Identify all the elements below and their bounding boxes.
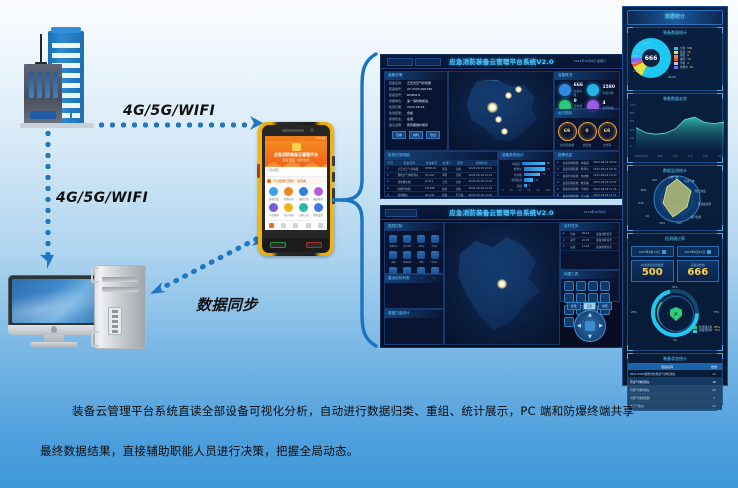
app-label: 维保计划 xyxy=(297,197,309,201)
alarm-cell: 装备异常提醒：手电筒 xyxy=(561,186,591,193)
app-glyph-icon xyxy=(299,203,308,212)
records-cell: 便携式气体检测仪 xyxy=(396,172,423,179)
table-header: 检测记录明细 xyxy=(385,152,497,160)
detail-value: 在用 xyxy=(407,117,413,121)
records-cell: 2023-09-18 11:40 xyxy=(467,192,497,199)
list1-header: 重点目标列表 xyxy=(385,275,443,283)
status-cell-name: 可燃气体检测仪 xyxy=(628,386,706,394)
dashboard-screenshot-1[interactable]: 应急消防装备云管理平台系统V2.0 2023年10月8日 星期日 装备详情 装备… xyxy=(380,54,623,199)
caption-line-1: 装备云管理平台系统直读全部设备可视化分析，自动进行数据归类、重组、统计展示，PC… xyxy=(72,406,634,418)
detail-key: 使用状态： xyxy=(389,117,404,121)
detail-button[interactable]: 编辑 xyxy=(409,131,423,139)
task-row[interactable]: 2进行10:05装备调拨任务 xyxy=(561,237,619,244)
tower-ports xyxy=(108,307,122,335)
records-table-panel[interactable]: 检测记录明细 序号装备名称装备编号检测人结果检测时间1正压式空气呼吸器RHZK-… xyxy=(384,151,498,197)
alarm-header: 报警信息 xyxy=(555,152,619,160)
status-col: 数量 xyxy=(706,363,722,370)
stat-value: 666 xyxy=(574,84,585,89)
arrow-head-down xyxy=(39,255,55,271)
layer-tool-label: 重点单位 xyxy=(402,244,413,247)
layer-tool[interactable]: 救援队伍 xyxy=(401,251,414,264)
date-start-value: 2023年8月14日 xyxy=(639,250,660,254)
legend-swatch xyxy=(693,326,697,329)
bar-item: 检测仪72 xyxy=(502,167,550,171)
status-cell-name: 有毒气体检测仪 xyxy=(628,378,706,386)
status-col: 装备名称 xyxy=(628,363,706,370)
detail-key: 装备型号： xyxy=(389,93,404,97)
link-line-left xyxy=(45,128,51,260)
layer-tool-icon xyxy=(431,251,439,259)
app-label: 扫码入库 xyxy=(297,213,309,217)
rate-number-box: 装备总数量666 xyxy=(677,260,720,282)
records-row[interactable]: 6灭火器MH-520周涛合格2023-09-18 12:05 xyxy=(385,198,497,199)
detail-key: 所属单位： xyxy=(389,99,404,103)
alarm-row[interactable]: 6装备到期提醒：灭火器2023-09-18 12:01 xyxy=(555,192,619,199)
regional-map[interactable] xyxy=(444,222,560,345)
layer-tool-label: 水源点 xyxy=(429,244,440,247)
area-xtick: 2023年08月 xyxy=(635,154,648,158)
app-glyph-icon xyxy=(299,187,308,196)
gauge-item: 0故障数 xyxy=(578,122,597,147)
legend-swatch xyxy=(674,51,678,54)
stat-label: 装备总数 xyxy=(574,89,585,97)
tab-装备[interactable] xyxy=(281,223,286,228)
gauge-top-label: 50% xyxy=(672,286,678,289)
records-cell: 不合格 xyxy=(454,192,467,199)
task-row[interactable]: 3完成11:30装备检测任务 xyxy=(561,244,619,251)
layer-tool[interactable]: 装备分布 xyxy=(387,235,400,248)
layer-tool[interactable]: 重点单位 xyxy=(401,235,414,248)
records-cell: 4 xyxy=(385,185,396,192)
radar-axis-label: VOC xyxy=(652,179,658,182)
layer-tool[interactable]: 消防站 xyxy=(415,235,428,248)
call-key[interactable] xyxy=(270,242,286,248)
news-ticker[interactable]: 平台数据已更新，请查看 xyxy=(265,177,327,184)
area-xtick: 01月 xyxy=(718,154,723,158)
detail-key: 备注说明： xyxy=(389,123,404,127)
layer-tool[interactable]: 预案 xyxy=(415,251,428,264)
records-row[interactable]: 2便携式气体检测仪QT-102李明合格2023-09-18 10:35 xyxy=(385,172,497,179)
radar-axis-label: 粉尘浓度 xyxy=(695,189,705,193)
app-logo-icon xyxy=(292,143,301,151)
maptools-header: 地图工具 xyxy=(561,271,619,279)
map-tool-icon[interactable] xyxy=(600,281,610,291)
detail-value: 合格 xyxy=(407,111,413,115)
target-list-panel[interactable]: 重点目标列表 xyxy=(384,274,444,309)
legend-swatch xyxy=(693,330,697,333)
alarm-panel[interactable]: 报警信息 1装备到期提醒：呼吸器2023-09-18 09:202装备到期提醒：… xyxy=(554,151,620,197)
keypad-area[interactable] xyxy=(263,238,329,252)
donut-card-title: 装备数量统计 xyxy=(628,28,722,37)
area-xtick: 09月 xyxy=(658,154,663,158)
trend-card-title: 装备数量走势 xyxy=(628,94,722,103)
app-subtitle: 装备管理 · 实时在线 xyxy=(265,158,327,162)
layer-tool-icon xyxy=(417,251,425,259)
records-cell: MH-520 xyxy=(423,198,440,199)
rate-number-box: 检测通过装备数量500 xyxy=(631,260,674,282)
detail-value: 正压式空气呼吸器 xyxy=(407,81,431,85)
detail-value: 第一消防救援站 xyxy=(407,99,428,103)
legend-swatch xyxy=(674,47,678,50)
layer-tool[interactable]: 道路 xyxy=(387,251,400,264)
date-start-picker[interactable]: 2023年8月14日 xyxy=(631,246,674,257)
bar-item: 呼吸器86 xyxy=(502,162,550,166)
bar-label: 其他 xyxy=(502,184,522,188)
alarm-row[interactable]: 3装备异常提醒：热成像2023-09-18 10:10 xyxy=(555,173,619,180)
app-icon-4[interactable]: 人员管理 xyxy=(267,203,281,217)
records-cell: 5 xyxy=(385,192,396,199)
desktop-computer-icon xyxy=(8,265,153,357)
task-table[interactable]: 1待办09:12装备巡检任务2进行10:05装备调拨任务3完成11:30装备检测… xyxy=(561,231,619,251)
calendar-icon xyxy=(707,250,711,254)
bar-xtick: 20 xyxy=(509,189,512,192)
records-cell: 合格 xyxy=(454,198,467,199)
pct-label-4: 1.9% xyxy=(633,70,640,73)
area-ytick: 1000 xyxy=(630,104,640,112)
layer-tool-icon xyxy=(403,251,411,259)
app-label: 装备台账 xyxy=(268,197,280,201)
bar-value: 9 xyxy=(529,184,531,187)
app-icon-7[interactable]: 系统设置 xyxy=(311,203,325,217)
trend-card: 装备数量走势 10008006004002000 2023年08月09月10月1… xyxy=(627,93,723,163)
status-row[interactable]: 电子气象仪21 xyxy=(628,402,722,410)
force-stats-panel[interactable]: 救援力量统计 xyxy=(384,309,444,345)
app-glyph-icon xyxy=(314,203,323,212)
layer-tool-label: 道路 xyxy=(388,260,399,263)
equipment-detail-panel[interactable]: 装备详情 装备名称：正压式空气呼吸器装备编号：AF-2023-000186装备型… xyxy=(384,71,448,151)
rate-legend-item: 装备使用率71% xyxy=(693,329,720,333)
radar-axis-label: 可燃气体 xyxy=(668,175,678,179)
area-xtick: 11月 xyxy=(688,154,693,158)
records-row[interactable]: 4防爆手电筒SD-308赵刚合格2023-09-18 11:18 xyxy=(385,185,497,192)
radar-axis-label: 噪声监测 xyxy=(691,215,701,219)
area-ytick: 600 xyxy=(630,120,640,128)
app-icon-5[interactable]: 统计分析 xyxy=(282,203,296,217)
trend-area-chart: 10008006004002000 2023年08月09月10月11月12月01… xyxy=(631,104,719,156)
bar-fill xyxy=(524,173,540,177)
layer-tools-panel[interactable]: 图层控制 装备分布重点单位消防站水源点道路救援队伍预案危险源监控标注测距围栏 xyxy=(384,222,444,274)
bar-xtick: 100 xyxy=(545,189,550,192)
detail-row: 备注说明：按周期维护保养 xyxy=(385,122,447,128)
task-cell: 装备调拨任务 xyxy=(594,237,619,244)
pct-label-1: 2% xyxy=(636,49,640,52)
records-cell: 2023-09-18 11:02 xyxy=(467,179,497,186)
detail-button[interactable]: 导出 xyxy=(426,131,440,139)
rate-number-value: 500 xyxy=(632,267,673,278)
alarm-cell: 2023-09-18 09:44 xyxy=(591,166,619,173)
task-cell: 2 xyxy=(561,237,568,244)
area-xtick: 12月 xyxy=(703,154,708,158)
app-label: 人员管理 xyxy=(268,213,280,217)
records-cell: 合格 xyxy=(454,172,467,179)
map-mode-switch[interactable]: 标准卫星地形 xyxy=(567,302,612,310)
records-cell: QT-102 xyxy=(423,172,440,179)
app-icon-6[interactable]: 扫码入库 xyxy=(297,203,311,217)
gauge-item: 68合格率 xyxy=(598,122,617,147)
area-ytick: 800 xyxy=(630,112,640,120)
dashboard2-header: 应急消防装备云管理平台系统V2.0 2023年10月8日 xyxy=(381,206,622,220)
monitor-radar-card: 数据监测统计 可燃气体有毒气体粉尘浓度温湿度监测噪声监测CO2CH4O2H2SN… xyxy=(627,165,723,231)
status-card-title: 装备状态统计 xyxy=(628,354,722,363)
records-row[interactable]: 3消防救生绳JS-211王伟合格2023-09-18 11:02 xyxy=(385,179,497,186)
map-pan-control[interactable]: ▲▼ ◀▶ xyxy=(574,310,606,342)
link-line-sync xyxy=(140,230,270,300)
records-cell: 灭火器 xyxy=(396,198,423,199)
bar-item: 其他9 xyxy=(502,184,550,188)
notice-label: 公告通知 xyxy=(265,167,327,177)
dashboard1-header: 应急消防装备云管理平台系统V2.0 2023年10月8日 星期日 xyxy=(381,55,622,69)
records-cell: 防爆手电筒 xyxy=(396,185,423,192)
bar-xtick: 0 xyxy=(502,189,504,192)
caption-line-2: 最终数据结果，直接辅助职能人员进行决策，把握全局动态。 xyxy=(40,446,359,458)
status-row[interactable]: MGC-5000便携式泵吸式气体检测仪11 xyxy=(628,370,722,378)
layer-tool-label: 消防站 xyxy=(415,244,426,247)
tower-cap xyxy=(51,27,81,33)
app-icon-2[interactable]: 维保计划 xyxy=(297,187,311,201)
records-cell: 赵刚 xyxy=(440,185,454,192)
status-row[interactable]: 有毒气体检测仪16 xyxy=(628,378,722,386)
app-icon-1[interactable]: 检测记录 xyxy=(282,187,296,201)
status-cell-count: 16 xyxy=(706,378,722,386)
apple-logo-icon xyxy=(51,326,57,333)
records-row[interactable]: 5热成像仪RC-044孙磊不合格2023-09-18 11:40 xyxy=(385,192,497,199)
pct-label-3: 0.3% xyxy=(631,62,638,65)
app-icon-3[interactable]: 报废管理 xyxy=(311,187,325,201)
news-text: 平台数据已更新，请查看 xyxy=(273,179,306,183)
task-list-panel[interactable]: 实时任务 1待办09:12装备巡检任务2进行10:05装备调拨任务3完成11:3… xyxy=(560,222,620,270)
detail-key: 装备编号： xyxy=(389,87,404,91)
records-cell: 合格 xyxy=(454,185,467,192)
stat-orb-icon xyxy=(587,84,599,96)
tab-我的[interactable] xyxy=(318,223,323,228)
bar-header: 装备类别统计 xyxy=(499,152,553,160)
bar-value: 86 xyxy=(547,162,550,165)
map-tool-icon[interactable] xyxy=(588,281,598,291)
building-ground xyxy=(20,123,94,128)
stats-header: 装备概况 xyxy=(555,72,619,80)
task-cell: 3 xyxy=(561,244,568,251)
gauge-item: 69在用装备数 xyxy=(558,122,577,147)
low-rise-building xyxy=(24,64,62,125)
bar-fill xyxy=(522,162,545,166)
tools-header: 图层控制 xyxy=(385,223,443,231)
app-label: 检测记录 xyxy=(282,197,294,201)
map-tool-icon[interactable] xyxy=(576,281,586,291)
alarm-row[interactable]: 4装备到期提醒：救生绳2023-09-18 10:52 xyxy=(555,179,619,186)
bar-label: 照明装备 xyxy=(502,178,522,182)
alarm-row[interactable]: 5装备异常提醒：手电筒2023-09-18 11:26 xyxy=(555,186,619,193)
radar-axis-label: CH4 xyxy=(660,222,665,225)
map-mode-地形[interactable]: 地形 xyxy=(598,302,612,310)
monitor xyxy=(8,275,100,341)
bar-fill xyxy=(524,184,527,188)
bar-xaxis: 020406080100 xyxy=(499,189,553,192)
list2-header: 救援力量统计 xyxy=(385,310,443,318)
app-glyph-icon xyxy=(269,187,278,196)
pass-rate-card[interactable]: 检测通过率 2023年8月14日 2023年8月14日 检测通过装备数量500装… xyxy=(627,233,723,351)
records-cell: 合格 xyxy=(454,179,467,186)
bar-label: 防护服 xyxy=(502,173,522,177)
layer-tool-label: 装备分布 xyxy=(388,244,399,247)
bar-label: 呼吸器 xyxy=(502,162,520,166)
office-buildings-icon xyxy=(18,28,96,128)
task-header: 实时任务 xyxy=(561,223,619,231)
layer-tool[interactable]: 水源点 xyxy=(428,235,441,248)
records-cell: 王伟 xyxy=(440,179,454,186)
date-end-picker[interactable]: 2023年8月14日 xyxy=(677,246,720,257)
distribution-map[interactable] xyxy=(448,71,554,151)
records-cell: 热成像仪 xyxy=(396,192,423,199)
detail-key: 检测结果： xyxy=(389,111,404,115)
gauge-panel: 运行指标 69在用装备数0故障数68合格率 xyxy=(554,109,620,151)
gauge-left-label: 25% xyxy=(631,311,637,314)
alarm-cell: 2023-09-18 11:26 xyxy=(591,186,619,193)
status-header-row: 装备名称数量 xyxy=(628,363,722,370)
bar-fill xyxy=(524,167,545,171)
legend-label: 装备使用率 xyxy=(699,329,712,333)
stat-label: 检测次数 xyxy=(602,91,615,95)
app-grid[interactable]: 装备台账检测记录维保计划报废管理人员管理统计分析扫码入库系统设置 xyxy=(265,184,327,220)
status-cell-count: 11 xyxy=(706,370,722,378)
status-cell-name: MGC-5000便携式泵吸式气体检测仪 xyxy=(628,370,706,378)
map-tool-icon[interactable] xyxy=(564,317,574,327)
rate-number-value: 666 xyxy=(678,267,719,278)
link-left-label: 4G/5G/WIFI xyxy=(56,190,148,206)
link-top-label: 4G/5G/WIFI xyxy=(123,103,215,119)
records-cell: 2023-09-18 12:05 xyxy=(467,198,497,199)
legend-label: 维修中 xyxy=(680,66,688,70)
bar-xtick: 40 xyxy=(518,189,521,192)
link-sync-label: 数据同步 xyxy=(196,294,258,315)
app-glyph-icon xyxy=(284,187,293,196)
status-table-card[interactable]: 装备状态统计 装备名称数量MGC-5000便携式泵吸式气体检测仪11有毒气体检测… xyxy=(627,353,723,411)
app-label: 报废管理 xyxy=(312,197,324,201)
gauge-bottom-label: 0% xyxy=(673,339,677,342)
gauge-value: 69 xyxy=(558,122,577,141)
link-line-top xyxy=(96,122,252,128)
legend-swatch xyxy=(674,58,678,61)
date-end-value: 2023年8月14日 xyxy=(684,250,705,254)
radar-axis-label: 有毒气体 xyxy=(684,179,694,183)
megaphone-icon xyxy=(267,179,271,183)
detail-button[interactable]: 查看 xyxy=(392,131,406,139)
area-ytick: 400 xyxy=(630,129,640,137)
legend-value: 71% xyxy=(714,329,720,333)
map-mode-卫星[interactable]: 卫星 xyxy=(583,302,597,310)
alarm-cell: 装备到期提醒：救生绳 xyxy=(561,179,591,186)
rugged-handheld-terminal[interactable]: 11:06 应急消防装备云管理平台 装备管理 · 实时在线 公告通知 平台数据已… xyxy=(258,122,334,256)
bar-value: 54 xyxy=(542,173,545,176)
area-xtick: 10月 xyxy=(673,154,678,158)
map-tool-icon[interactable] xyxy=(564,281,574,291)
map-tools-panel[interactable]: 地图工具 xyxy=(560,270,620,302)
pct-label-5: 69.6% xyxy=(668,76,676,79)
stat-value: 1580 xyxy=(602,86,615,91)
bar-value: 31 xyxy=(535,179,538,182)
bar-item: 照明装备31 xyxy=(502,178,550,182)
alarm-row[interactable]: 2装备到期提醒：检测仪2023-09-18 09:44 xyxy=(555,166,619,173)
bar-xtick: 80 xyxy=(536,189,539,192)
records-cell: 孙磊 xyxy=(440,192,454,199)
layer-tool-label: 危险源 xyxy=(429,260,440,263)
layer-tool-icon xyxy=(417,235,425,243)
records-cell: 2 xyxy=(385,172,396,179)
status-row[interactable]: 可燃气体检测仪20 xyxy=(628,386,722,394)
category-bar-panel: 装备类别统计 呼吸器86检测仪72防护服54照明装备31其他9020406080… xyxy=(498,151,554,197)
legend-swatch xyxy=(674,62,678,65)
donut-center-value: 666 xyxy=(642,49,660,67)
alarm-cell: 2023-09-18 12:01 xyxy=(591,192,619,199)
dashboard1-time: 2023年10月8日 星期日 xyxy=(574,59,606,63)
radar-axis-label: NO2 xyxy=(641,189,647,192)
app-glyph-icon xyxy=(269,203,278,212)
detail-panel-header: 装备详情 xyxy=(385,72,447,80)
layer-tool-label: 预案 xyxy=(415,260,426,263)
statistics-side-panel[interactable]: 数据统计 装备数量统计 666 合格500维保56报废6故障14待检2维修中26… xyxy=(622,6,728,386)
alarm-cell: 装备到期提醒：检测仪 xyxy=(561,166,591,173)
stat-item: 1580检测次数 xyxy=(587,84,615,97)
tab-扫码[interactable] xyxy=(293,223,298,228)
map-mode-标准[interactable]: 标准 xyxy=(567,302,581,310)
gauge-value: 0 xyxy=(578,122,597,141)
panel-title: 数据统计 xyxy=(627,10,723,25)
bottom-tab-bar[interactable] xyxy=(265,220,327,230)
bar-label: 检测仪 xyxy=(502,167,522,171)
tab-首页[interactable] xyxy=(269,223,274,228)
dashboard-screenshot-2[interactable]: 应急消防装备云管理平台系统V2.0 2023年10月8日 图层控制 装备分布重点… xyxy=(380,205,623,348)
gauge-header: 运行指标 xyxy=(555,110,619,118)
sos-side-button[interactable] xyxy=(257,164,260,178)
status-cell-name: 可燃气体报警器 xyxy=(628,394,706,402)
app-icon-0[interactable]: 装备台账 xyxy=(267,187,281,201)
records-cell: JS-211 xyxy=(423,179,440,186)
equipment-count-card: 装备数量统计 666 合格500维保56报废6故障14待检2维修中26 8.4%… xyxy=(627,27,723,91)
radar-axis-label: CO2 xyxy=(676,222,682,225)
bar-item: 防护服54 xyxy=(502,173,550,177)
layer-tool[interactable]: 危险源 xyxy=(428,251,441,264)
alarm-cell: 装备到期提醒：灭火器 xyxy=(561,192,591,199)
tab-消息[interactable] xyxy=(306,223,311,228)
records-cell: 3 xyxy=(385,179,396,186)
task-cell: 进行 xyxy=(568,237,580,244)
gauge-right-label: 75% xyxy=(713,311,719,314)
bar-fill xyxy=(524,178,533,182)
alarm-list[interactable]: 1装备到期提醒：呼吸器2023-09-18 09:202装备到期提醒：检测仪20… xyxy=(555,160,619,199)
status-cell-name: 电子气象仪 xyxy=(628,402,706,410)
task-cell: 11:30 xyxy=(580,244,595,251)
legend-swatch xyxy=(674,55,678,58)
app-glyph-icon xyxy=(284,203,293,212)
records-table[interactable]: 序号装备名称装备编号检测人结果检测时间1正压式空气呼吸器RHZK-01张强合格2… xyxy=(385,160,497,199)
gauge-label: 故障数 xyxy=(578,143,597,147)
records-cell: 消防救生绳 xyxy=(396,179,423,186)
records-cell: 2023-09-18 10:35 xyxy=(467,172,497,179)
task-cell: 完成 xyxy=(568,244,580,251)
records-cell: 2023-09-18 11:18 xyxy=(467,185,497,192)
detail-actions[interactable]: 查看编辑导出 xyxy=(385,131,447,139)
records-cell: SD-308 xyxy=(423,185,440,192)
detail-key: 检测日期： xyxy=(389,105,404,109)
status-cell-count: 20 xyxy=(706,386,722,394)
end-key[interactable] xyxy=(306,242,322,248)
records-cell: 周涛 xyxy=(440,198,454,199)
task-cell: 10:05 xyxy=(580,237,595,244)
shield-icon: ⌕ xyxy=(670,307,682,321)
phone-screen[interactable]: 11:06 应急消防装备云管理平台 装备管理 · 实时在线 公告通知 平台数据已… xyxy=(265,136,327,230)
status-row[interactable]: 可燃气体报警器3 xyxy=(628,394,722,402)
area-ytick: 200 xyxy=(630,137,640,145)
status-table[interactable]: 装备名称数量MGC-5000便携式泵吸式气体检测仪11有毒气体检测仪16可燃气体… xyxy=(628,363,722,410)
